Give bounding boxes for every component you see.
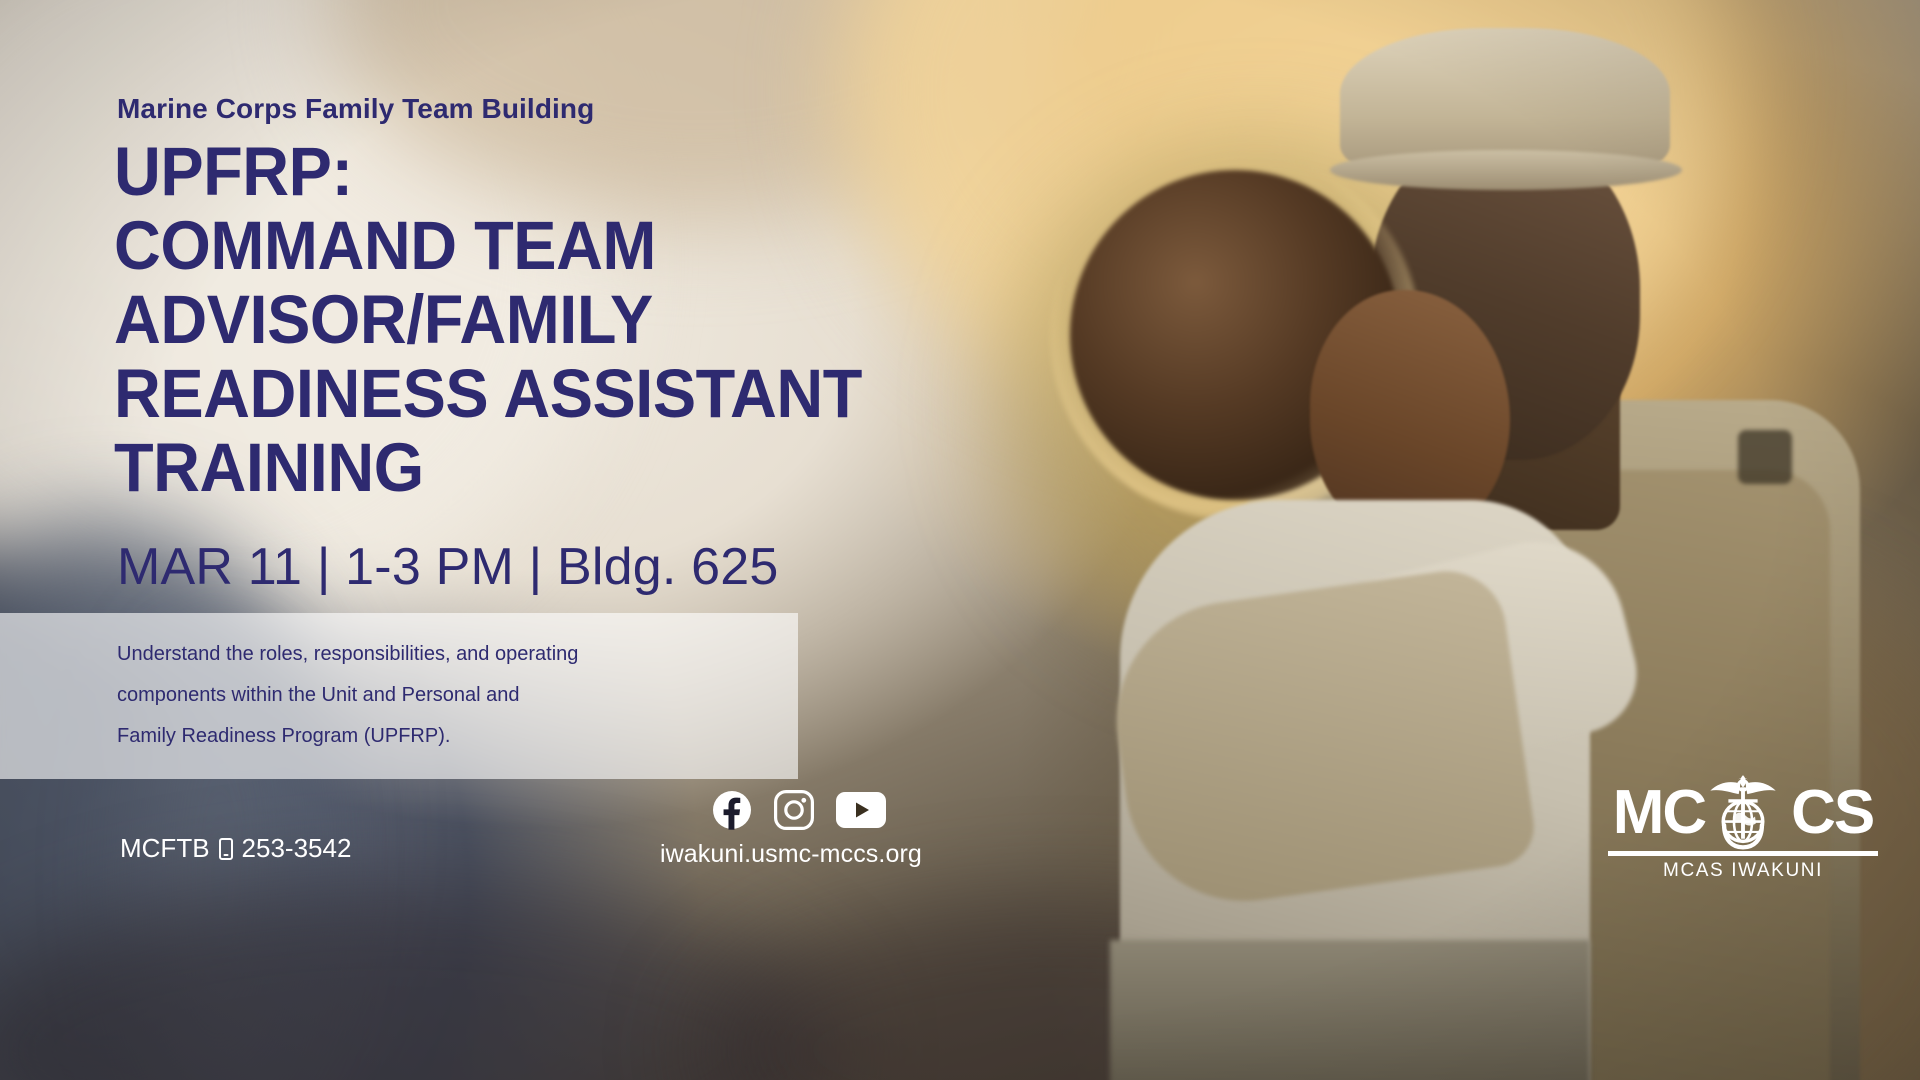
mccs-wordmark-right: CS	[1791, 782, 1873, 844]
headline-line-3: ADVISOR/FAMILY	[114, 283, 913, 357]
contact-info: MCFTB 253-3542	[120, 833, 351, 864]
flyer-content: Marine Corps Family Team Building UPFRP:…	[0, 0, 1920, 1080]
description-line-1: Understand the roles, responsibilities, …	[117, 634, 757, 675]
mccs-logo-subtitle: MCAS IWAKUNI	[1608, 860, 1878, 882]
contact-phone-number: 253-3542	[242, 833, 352, 864]
eagle-globe-anchor-icon	[1700, 772, 1786, 858]
flyer-canvas: Marine Corps Family Team Building UPFRP:…	[0, 0, 1920, 1080]
contact-org-label: MCFTB	[120, 833, 210, 864]
instagram-icon[interactable]	[774, 790, 814, 830]
description-line-3: Family Readiness Program (UPFRP).	[117, 716, 757, 757]
mccs-logo: MC CS	[1608, 782, 1878, 882]
mobile-phone-icon	[219, 838, 233, 860]
description-text: Understand the roles, responsibilities, …	[117, 634, 757, 757]
headline-line-1: UPFRP:	[114, 135, 913, 209]
youtube-icon[interactable]	[836, 792, 886, 828]
program-eyebrow: Marine Corps Family Team Building	[117, 93, 594, 125]
facebook-icon[interactable]	[712, 790, 752, 830]
mccs-wordmark: MC CS	[1608, 782, 1878, 844]
headline-line-4: READINESS ASSISTANT	[114, 357, 913, 431]
headline-line-2: COMMAND TEAM	[114, 209, 913, 283]
page-title: UPFRP: COMMAND TEAM ADVISOR/FAMILY READI…	[114, 135, 913, 505]
description-line-2: components within the Unit and Personal …	[117, 675, 757, 716]
website-url[interactable]: iwakuni.usmc-mccs.org	[660, 840, 922, 869]
mccs-wordmark-left: MC	[1613, 782, 1705, 844]
event-details: MAR 11 | 1-3 PM | Bldg. 625	[117, 537, 779, 597]
social-links	[712, 790, 886, 830]
headline-line-5: TRAINING	[114, 431, 913, 505]
